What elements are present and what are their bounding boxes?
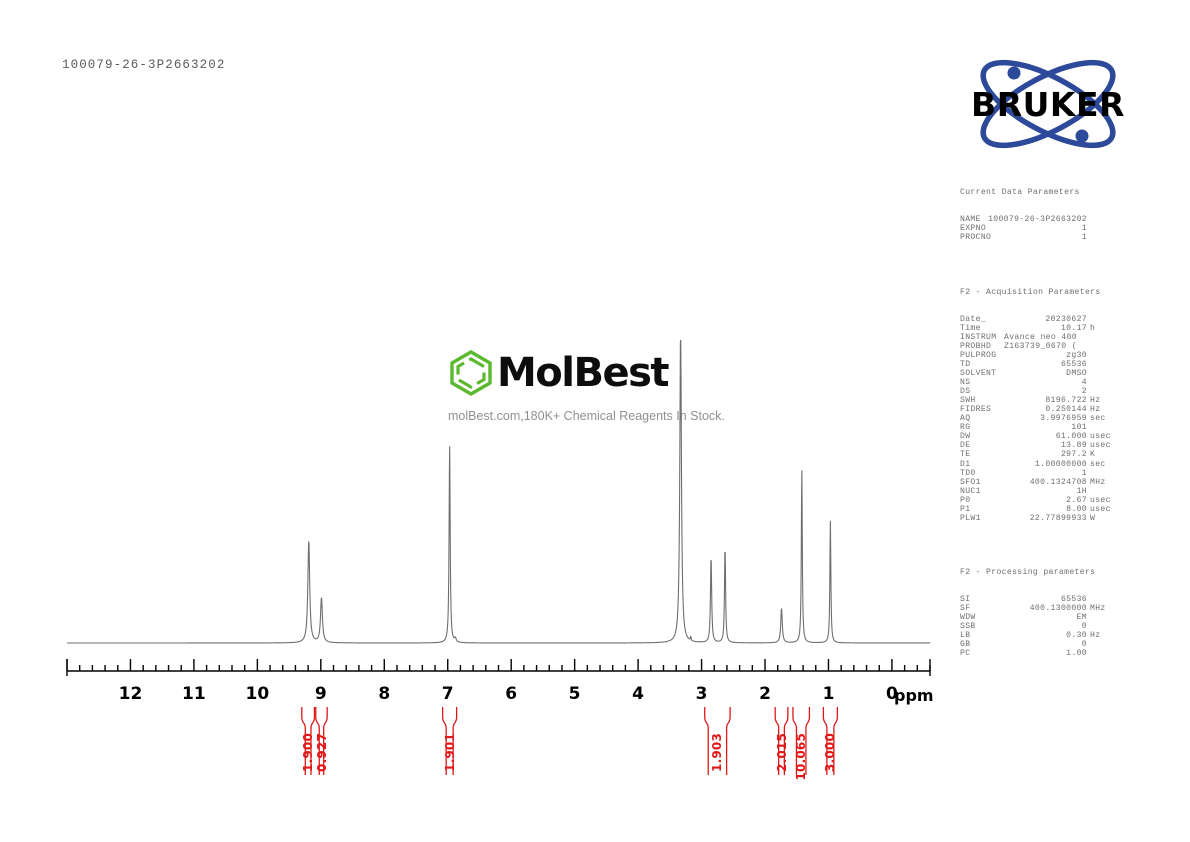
param-unit: W xyxy=(1090,514,1095,523)
param-unit: K xyxy=(1090,450,1095,459)
param-unit: Hz xyxy=(1090,396,1100,405)
param-value: 8196.722 xyxy=(960,396,1087,405)
param-value: Avance neo 400 xyxy=(1004,333,1077,342)
integral-curve xyxy=(705,707,709,775)
param-value: 0 xyxy=(960,640,1087,649)
param-value: DMSO xyxy=(960,369,1087,378)
param-row: SOLVENTDMSO xyxy=(960,369,1125,378)
page-title: 100079-26-3P2663202 xyxy=(62,58,225,72)
current-data-rows: NAME100079-26-3P2663202EXPNO1PROCNO1 xyxy=(960,215,1125,242)
param-unit: sec xyxy=(1090,414,1106,423)
param-unit: sec xyxy=(1090,460,1106,469)
ppm-axis xyxy=(67,659,930,676)
param-spacer xyxy=(960,260,1125,269)
param-value: Z163739_0670 ( xyxy=(1004,342,1077,351)
molbest-hexagon-icon xyxy=(447,349,495,397)
param-row: DW61.000usec xyxy=(960,432,1125,441)
param-row: PROBHDZ163739_0670 ( xyxy=(960,342,1125,351)
param-row: NUC11H xyxy=(960,487,1125,496)
param-spacer xyxy=(960,541,1125,550)
axis-tick-label: 12 xyxy=(119,684,143,704)
bruker-atom-dot-bottom xyxy=(1076,130,1089,143)
integral-curve xyxy=(727,707,731,775)
param-value: 1 xyxy=(960,233,1087,242)
param-value: 3.9976959 xyxy=(960,414,1087,423)
param-value: 297.2 xyxy=(960,450,1087,459)
param-value: 65536 xyxy=(960,360,1087,369)
param-unit: Hz xyxy=(1090,631,1100,640)
axis-tick-label: 9 xyxy=(315,684,327,704)
axis-tick-label: 10 xyxy=(246,684,270,704)
param-row: NAME100079-26-3P2663202 xyxy=(960,215,1125,224)
param-value: 20230627 xyxy=(960,315,1087,324)
param-row: PULPROGzg30 xyxy=(960,351,1125,360)
param-value: 101 xyxy=(960,423,1087,432)
axis-tick-label: 4 xyxy=(632,684,644,704)
param-value: 1H xyxy=(960,487,1087,496)
param-row: P18.00usec xyxy=(960,505,1125,514)
param-row: PROCNO1 xyxy=(960,233,1125,242)
param-unit: Hz xyxy=(1090,405,1100,414)
processing-heading: F2 - Processing parameters xyxy=(960,568,1125,577)
bruker-atom-dot-top xyxy=(1008,67,1021,80)
param-unit: usec xyxy=(1090,496,1111,505)
param-row: SWH8196.722Hz xyxy=(960,396,1125,405)
param-value: 400.1324708 xyxy=(960,478,1087,487)
param-row: TD01 xyxy=(960,469,1125,478)
param-value: 100079-26-3P2663202 xyxy=(960,215,1087,224)
param-row: GB0 xyxy=(960,640,1125,649)
axis-tick-label: 7 xyxy=(442,684,454,704)
bruker-wordmark: BRUKER xyxy=(971,85,1125,124)
param-value: 1.00 xyxy=(960,649,1087,658)
integral-value-label: 0.927 xyxy=(315,733,329,772)
axis-tick-label: 11 xyxy=(182,684,206,704)
param-row: DE13.89usec xyxy=(960,441,1125,450)
axis-tick-label: 5 xyxy=(569,684,581,704)
integral-curves xyxy=(302,707,838,775)
integral-value-label: 1.900 xyxy=(301,733,315,772)
acquisition-heading: F2 - Acquisition Parameters xyxy=(960,288,1125,297)
axis-tick-label: 3 xyxy=(696,684,708,704)
param-value: 1 xyxy=(960,224,1087,233)
param-value: EM xyxy=(960,613,1087,622)
param-value: 10.17 xyxy=(960,324,1087,333)
param-row: P02.67usec xyxy=(960,496,1125,505)
param-row: PLW122.77899933W xyxy=(960,514,1125,523)
molbest-logo: MolBest xyxy=(447,345,747,401)
param-row: LB0.30Hz xyxy=(960,631,1125,640)
param-value: 1 xyxy=(960,469,1087,478)
molbest-wordmark: MolBest xyxy=(497,353,668,393)
param-value: 1.00000000 xyxy=(960,460,1087,469)
param-row: FIDRES0.250144Hz xyxy=(960,405,1125,414)
param-row: Date_20230627 xyxy=(960,315,1125,324)
molbest-tagline: molBest.com,180K+ Chemical Reagents In S… xyxy=(448,409,747,423)
param-row: DS2 xyxy=(960,387,1125,396)
param-row: AQ3.9976959sec xyxy=(960,414,1125,423)
param-unit: usec xyxy=(1090,432,1111,441)
acquisition-rows: Date_20230627Time10.17hINSTRUMAvance neo… xyxy=(960,315,1125,523)
param-value: 65536 xyxy=(960,595,1087,604)
integral-value-label: 1.901 xyxy=(443,733,457,772)
param-unit: MHz xyxy=(1090,604,1106,613)
integral-value-label: 2.015 xyxy=(775,733,789,772)
param-row: SF400.1300000MHz xyxy=(960,604,1125,613)
param-row: PC1.00 xyxy=(960,649,1125,658)
param-row: NS4 xyxy=(960,378,1125,387)
param-value: 13.89 xyxy=(960,441,1087,450)
param-value: zg30 xyxy=(960,351,1087,360)
bruker-logo: BRUKER xyxy=(958,52,1138,157)
molbest-watermark: MolBest molBest.com,180K+ Chemical Reage… xyxy=(447,345,747,435)
param-value: 400.1300000 xyxy=(960,604,1087,613)
axis-tick-label: 1 xyxy=(823,684,835,704)
integral-value-label: 1.903 xyxy=(710,733,724,772)
param-unit: usec xyxy=(1090,441,1111,450)
axis-tick-label: 2 xyxy=(759,684,771,704)
param-unit: usec xyxy=(1090,505,1111,514)
axis-tick-label: 8 xyxy=(378,684,390,704)
integral-value-label: 10.065 xyxy=(794,733,808,781)
param-value: 2.67 xyxy=(960,496,1087,505)
param-row: TE297.2K xyxy=(960,450,1125,459)
param-row: Time10.17h xyxy=(960,324,1125,333)
param-value: 8.00 xyxy=(960,505,1087,514)
param-row: TD65536 xyxy=(960,360,1125,369)
param-row: D11.00000000sec xyxy=(960,460,1125,469)
param-value: 61.000 xyxy=(960,432,1087,441)
param-value: 0.250144 xyxy=(960,405,1087,414)
processing-rows: SI65536SF400.1300000MHzWDWEMSSB0LB0.30Hz… xyxy=(960,595,1125,658)
param-value: 2 xyxy=(960,387,1087,396)
axis-unit-label: ppm xyxy=(894,686,934,705)
param-value: 0 xyxy=(960,622,1087,631)
param-unit: h xyxy=(1090,324,1095,333)
param-unit: MHz xyxy=(1090,478,1106,487)
param-value: 0.30 xyxy=(960,631,1087,640)
param-value: 22.77899933 xyxy=(960,514,1087,523)
param-value: 4 xyxy=(960,378,1087,387)
integral-value-label: 3.000 xyxy=(823,733,837,772)
param-row: SI65536 xyxy=(960,595,1125,604)
param-row: RG101 xyxy=(960,423,1125,432)
param-row: EXPNO1 xyxy=(960,224,1125,233)
axis-tick-label: 6 xyxy=(505,684,517,704)
param-row: SSB0 xyxy=(960,622,1125,631)
current-data-heading: Current Data Parameters xyxy=(960,188,1125,197)
param-key: INSTRUM xyxy=(960,333,996,342)
acquisition-parameters-panel: Current Data Parameters NAME100079-26-3P… xyxy=(960,170,1125,668)
param-row: INSTRUMAvance neo 400 xyxy=(960,333,1125,342)
param-row: WDWEM xyxy=(960,613,1125,622)
param-key: PROBHD xyxy=(960,342,991,351)
param-row: SFO1400.1324708MHz xyxy=(960,478,1125,487)
